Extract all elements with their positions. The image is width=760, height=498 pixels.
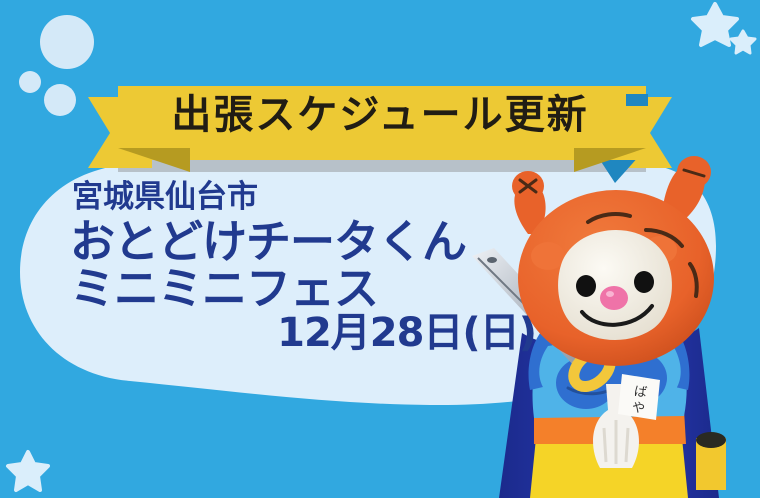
event-title-line1: おとどけチータくん [70, 219, 558, 264]
bubble-text-block: 宮城県仙台市 おとどけチータくん ミニミニフェス 12月28日(日) [58, 182, 558, 353]
banner-title: 出張スケジュール更新 [0, 95, 760, 135]
city-label: 宮城県仙台市 [72, 182, 558, 213]
poster-root: 出張スケジュール更新 宮城県仙台市 おとどけチータくん ミニミニフェス 12月2… [0, 0, 760, 498]
event-date: 12月28日(日) [58, 313, 558, 353]
event-title-line2: ミニミニフェス [70, 266, 558, 311]
